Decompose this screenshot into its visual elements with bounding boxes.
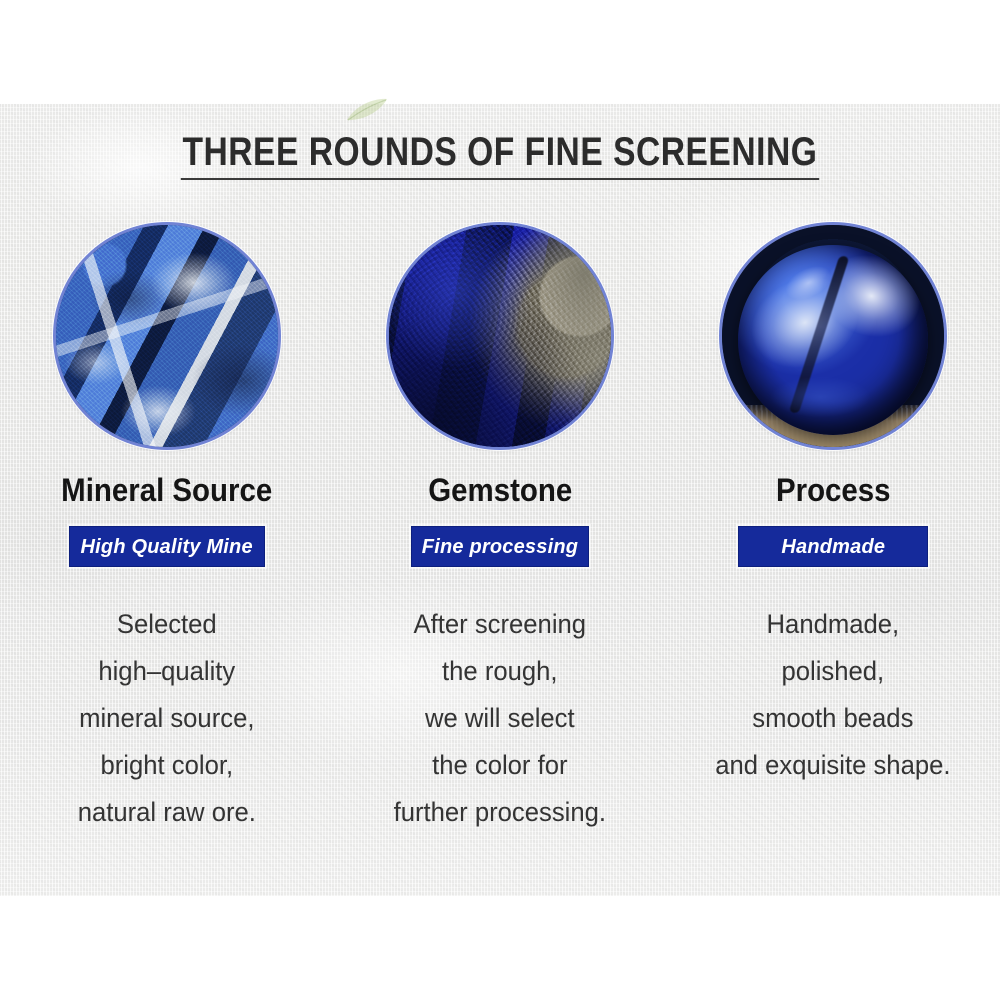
- crystal-shading: [389, 225, 611, 447]
- column-mineral-source: Mineral Source High Quality Mine Selecte…: [0, 222, 333, 836]
- mineral-source-image: [56, 225, 278, 447]
- column-heading: Process: [776, 474, 891, 506]
- mineral-source-photo: [53, 222, 281, 450]
- rock-grain: [56, 225, 278, 447]
- status-badge: High Quality Mine: [69, 526, 265, 567]
- column-body-text: Selected high–quality mineral source, br…: [78, 601, 256, 836]
- page-title: THREE ROUNDS OF FINE SCREENING: [0, 131, 1000, 180]
- column-body-text: After screening the rough, we will selec…: [394, 601, 606, 836]
- process-image: [722, 225, 944, 447]
- bead-lowlight: [754, 370, 887, 423]
- column-heading: Gemstone: [428, 474, 572, 506]
- status-badge: Handmade: [738, 526, 928, 567]
- process-photo: [719, 222, 947, 450]
- page-title-text: THREE ROUNDS OF FINE SCREENING: [181, 131, 819, 180]
- gemstone-image: [389, 225, 611, 447]
- status-badge: Fine processing: [411, 526, 589, 567]
- column-heading: Mineral Source: [61, 474, 272, 506]
- column-gemstone: Gemstone Fine processing After screening…: [333, 222, 666, 836]
- gemstone-photo: [386, 222, 614, 450]
- infographic-page: THREE ROUNDS OF FINE SCREENING Mineral S…: [0, 0, 1000, 1000]
- leaf-icon: [345, 96, 389, 124]
- column-process: Process Handmade Handmade, polished, smo…: [667, 222, 1000, 836]
- column-body-text: Handmade, polished, smooth beads and exq…: [716, 601, 951, 789]
- feature-columns: Mineral Source High Quality Mine Selecte…: [0, 222, 1000, 836]
- polished-bead: [738, 245, 928, 435]
